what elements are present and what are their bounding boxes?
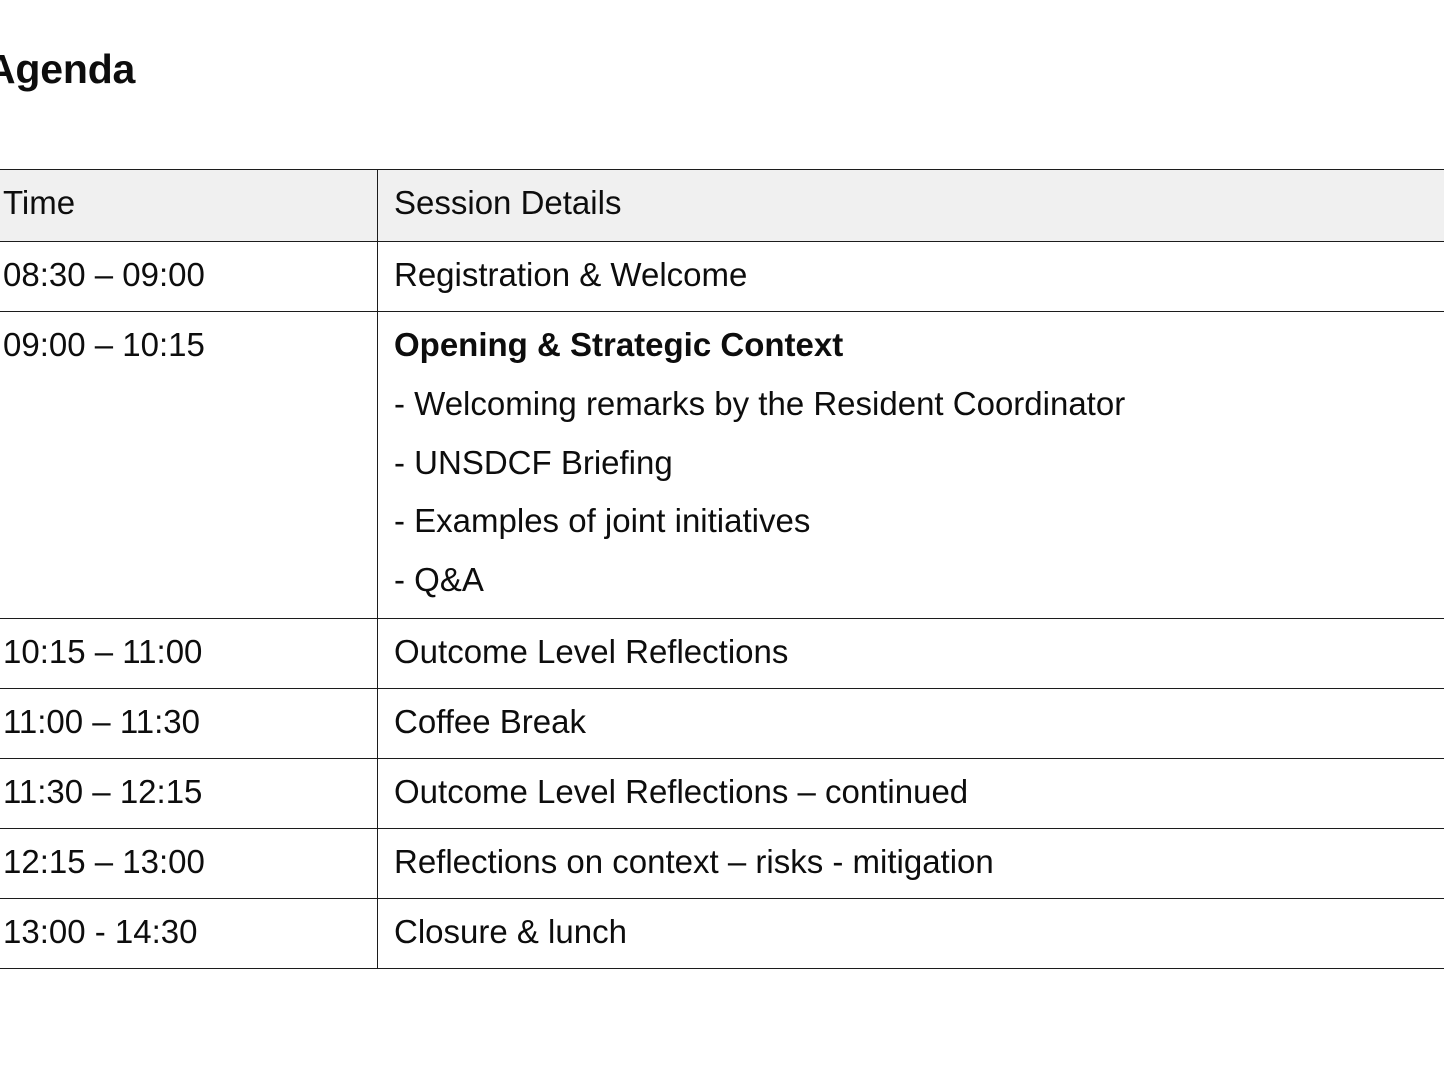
session-bullet-line: - Q&A xyxy=(394,559,1444,602)
cell-session-details: Reflections on context – risks - mitigat… xyxy=(378,828,1444,898)
cell-time: 11:30 – 12:15 xyxy=(0,759,378,829)
agenda-table-container: Time Session Details 08:30 – 09:00Regist… xyxy=(0,169,1444,969)
cell-time: 11:00 – 11:30 xyxy=(0,689,378,759)
table-row: 09:00 – 10:15Opening & Strategic Context… xyxy=(0,311,1444,618)
table-header: Time Session Details xyxy=(0,170,1444,242)
cell-session-details: Outcome Level Reflections xyxy=(378,619,1444,689)
table-row: 13:00 - 14:30Closure & lunch xyxy=(0,898,1444,968)
cell-session-details: Closure & lunch xyxy=(378,898,1444,968)
session-bullet-line: - Examples of joint initiatives xyxy=(394,500,1444,543)
slide-canvas: Agenda Time Session Details 08:30 – 09:0… xyxy=(0,0,1444,1080)
cell-time: 13:00 - 14:30 xyxy=(0,898,378,968)
table-header-row: Time Session Details xyxy=(0,170,1444,242)
agenda-table: Time Session Details 08:30 – 09:00Regist… xyxy=(0,169,1444,969)
table-row: 08:30 – 09:00Registration & Welcome xyxy=(0,241,1444,311)
cell-session-details: Coffee Break xyxy=(378,689,1444,759)
page-title: Agenda xyxy=(0,46,135,93)
table-row: 11:00 – 11:30Coffee Break xyxy=(0,689,1444,759)
cell-time: 09:00 – 10:15 xyxy=(0,311,378,618)
cell-session-details: Registration & Welcome xyxy=(378,241,1444,311)
cell-time: 10:15 – 11:00 xyxy=(0,619,378,689)
cell-time: 08:30 – 09:00 xyxy=(0,241,378,311)
table-row: 12:15 – 13:00Reflections on context – ri… xyxy=(0,828,1444,898)
table-row: 10:15 – 11:00Outcome Level Reflections xyxy=(0,619,1444,689)
session-bullet-line: - Welcoming remarks by the Resident Coor… xyxy=(394,383,1444,426)
table-body: 08:30 – 09:00Registration & Welcome09:00… xyxy=(0,241,1444,968)
cell-session-details: Outcome Level Reflections – continued xyxy=(378,759,1444,829)
session-heading: Opening & Strategic Context xyxy=(394,324,1444,367)
column-header-session-details: Session Details xyxy=(378,170,1444,242)
column-header-time: Time xyxy=(0,170,378,242)
cell-session-details: Opening & Strategic Context- Welcoming r… xyxy=(378,311,1444,618)
table-row: 11:30 – 12:15Outcome Level Reflections –… xyxy=(0,759,1444,829)
session-bullet-line: - UNSDCF Briefing xyxy=(394,442,1444,485)
cell-time: 12:15 – 13:00 xyxy=(0,828,378,898)
